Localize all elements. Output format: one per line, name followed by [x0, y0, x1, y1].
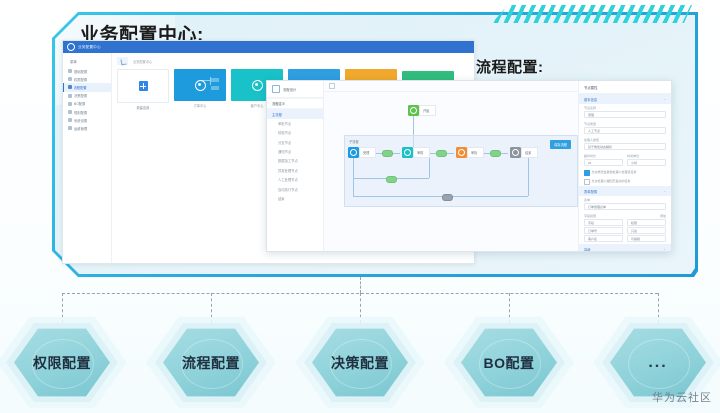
flow-node-label: 结束: [521, 147, 538, 158]
sidebar-item-label: 基础配置: [74, 69, 87, 74]
flow-condition-chip[interactable]: [490, 150, 501, 157]
sidebar-item-label: 运维管理: [74, 126, 87, 131]
flow-node-label: 审批: [467, 147, 484, 158]
grid-cell-field[interactable]: 订单号: [584, 227, 623, 234]
hexagon-label: 流程配置: [182, 353, 240, 373]
flow-edge: [528, 158, 529, 196]
tree-item[interactable]: 分支节点: [267, 138, 323, 147]
app-sidebar: 菜单 基础配置 权限配置 流程配置 决策配置: [63, 53, 112, 263]
hand-pointer-icon: [117, 57, 128, 65]
field-handler-type: 处理人类型 基于角色动态解析: [579, 136, 671, 152]
hexagon-item-1[interactable]: 流程配置: [144, 312, 278, 413]
checkbox-icon: [584, 179, 590, 185]
app-icon: [252, 80, 263, 91]
sidebar-item-label: 规则配置: [74, 110, 87, 115]
save-flow-button[interactable]: 保存流程: [550, 140, 571, 149]
section-label: 基本信息: [584, 97, 597, 102]
flow-edge: [353, 158, 354, 178]
box-icon: [68, 102, 72, 106]
handler-type-select[interactable]: 基于角色动态解析: [584, 143, 666, 150]
flow-icon: [68, 85, 72, 89]
grid-cell-perm[interactable]: 只读: [627, 227, 666, 234]
rule-icon: [68, 110, 72, 114]
checkbox-withdraw[interactable]: 允许处理人撤回已提交的任务: [579, 177, 671, 186]
diagram-decoration-icon: [202, 77, 222, 93]
flow-condition-chip[interactable]: [382, 150, 393, 157]
sidebar-item-label: BO配置: [74, 101, 85, 106]
flow-node-label: 开始: [419, 105, 436, 116]
hexagon-label: 权限配置: [33, 353, 91, 373]
add-field-button[interactable]: 添加: [660, 214, 666, 218]
end-node-icon: [510, 147, 521, 158]
flow-edge: [353, 178, 354, 196]
flow-condition-chip[interactable]: [386, 176, 397, 183]
tool-icon: [68, 126, 72, 130]
tree-item[interactable]: 自动执行节点: [267, 184, 323, 193]
checkbox-icon: [584, 170, 590, 176]
sidebar-item-1[interactable]: 权限配置: [63, 75, 111, 83]
tree-item[interactable]: 结束: [267, 194, 323, 203]
node-type-select[interactable]: 人工节点: [584, 127, 666, 134]
tree-header: 流程设计: [267, 81, 323, 98]
flow-designer-window: 流程设计 流程定义 主流程 审批节点 校验节点 分支节点 通知节点 数据加工节点…: [266, 80, 672, 252]
tree-item-selected[interactable]: 主流程: [267, 109, 323, 118]
page-root: 业务配置中心: 流程配置: 业务配置中心 菜单 基础配置 权限配置 流程配置: [0, 0, 720, 413]
grid-label: 字段权限: [584, 214, 596, 218]
app-title: 业务配置中心: [78, 45, 101, 50]
hexagon-item-0[interactable]: 权限配置: [0, 312, 129, 413]
card-label: 订单中心: [174, 103, 226, 108]
properties-section-advanced[interactable]: 高级 ⌄: [579, 244, 671, 252]
sidebar-item-7[interactable]: 运维管理: [63, 124, 111, 132]
field-label: 时间单位: [627, 154, 666, 158]
watermark: 华为云社区: [652, 389, 712, 405]
new-app-card[interactable]: [117, 69, 169, 103]
field-label: 处理人类型: [584, 138, 666, 142]
breadcrumb-text: 业务配置中心: [133, 59, 152, 64]
form-select[interactable]: 订单受理表单: [584, 203, 666, 210]
properties-title: 节点属性: [579, 81, 671, 94]
flow-node-3[interactable]: 审批: [456, 147, 484, 158]
field-label: 节点名称: [584, 106, 666, 110]
key-icon: [68, 77, 72, 81]
sidebar-item-6[interactable]: 系统设置: [63, 116, 111, 124]
flow-canvas[interactable]: 开始 子流程 保存流程 受理 审核: [324, 91, 578, 251]
grid-icon: [68, 69, 72, 73]
tree-item[interactable]: 审批节点: [267, 119, 323, 128]
field-label: 表单: [584, 198, 666, 202]
chart-icon: [68, 94, 72, 98]
section-label: 表单配置: [584, 189, 597, 194]
properties-section-form[interactable]: 表单配置 ⌄: [579, 186, 671, 196]
properties-panel: 节点属性 基本信息 ⌄ 节点名称 受理 节点类型 人工节点 处理人类型 基于角色…: [578, 81, 671, 251]
breadcrumb: 业务配置中心: [117, 57, 469, 65]
flow-canvas-panel: 开始 子流程 保存流程 受理 审核: [324, 81, 578, 251]
connector-stem: [360, 277, 361, 293]
chevron-down-icon: ⌄: [663, 189, 666, 193]
task-node-icon: [348, 147, 359, 158]
section-label: 高级: [584, 247, 591, 252]
field-timeout-row: 超时时长 24 时间单位 小时: [579, 152, 671, 168]
grid-cell-perm[interactable]: 可编辑: [627, 235, 666, 242]
flow-node-2[interactable]: 审核: [402, 147, 430, 158]
app-titlebar: 业务配置中心: [63, 41, 474, 53]
flow-reject-chip[interactable]: [442, 194, 453, 201]
stripe-decoration-icon: [492, 5, 692, 23]
hexagon-item-2[interactable]: 决策配置: [293, 312, 427, 413]
chevron-down-icon: ⌄: [663, 247, 666, 251]
grid-cell-field[interactable]: 客户名: [584, 235, 623, 242]
gear-icon: [68, 118, 72, 122]
card-cell-1[interactable]: 订单中心: [174, 69, 226, 108]
tree-item[interactable]: 数据加工节点: [267, 156, 323, 165]
sidebar-item-label: 权限配置: [74, 77, 87, 82]
tree-item[interactable]: 人工处理节点: [267, 175, 323, 184]
hexagon-label: BO配置: [484, 353, 535, 373]
grid-header-perm: 权限: [627, 219, 666, 226]
chevron-down-icon: ⌄: [663, 97, 666, 101]
field-label: 节点类型: [584, 122, 666, 126]
hexagon-item-3[interactable]: BO配置: [442, 312, 576, 413]
sidebar-item-0[interactable]: 基础配置: [63, 67, 111, 75]
checkbox-label: 允许委托给其他处理人处理该任务: [592, 170, 637, 174]
flow-node-label: 受理: [359, 147, 376, 158]
approve-node-icon: [456, 147, 467, 158]
field-permission-grid: 字段权限 添加 字段 权限 订单号 只读 客户名 可编辑: [579, 212, 671, 244]
checkbox-label: 允许处理人撤回已提交的任务: [592, 179, 631, 183]
field-node-name: 节点名称 受理: [579, 104, 671, 120]
flow-node-1[interactable]: 受理: [348, 147, 376, 158]
grid-header-field: 字段: [584, 219, 623, 226]
flow-node-4[interactable]: 结束: [510, 147, 538, 158]
time-unit-select[interactable]: 小时: [627, 159, 666, 166]
field-time-unit: 时间单位 小时: [627, 154, 666, 166]
tree-header-label: 流程设计: [283, 87, 296, 92]
properties-section-basic[interactable]: 基本信息 ⌄: [579, 94, 671, 104]
checkbox-delegate[interactable]: 允许委托给其他处理人处理该任务: [579, 168, 671, 177]
card-cell-0[interactable]: 新建应用: [117, 69, 169, 110]
hexagon-label: 决策配置: [331, 353, 389, 373]
sidebar-item-label: 决策配置: [74, 93, 87, 98]
flow-edge: [353, 196, 528, 197]
flow-condition-chip[interactable]: [436, 150, 447, 157]
tree-item[interactable]: 校验节点: [267, 128, 323, 137]
hexagon-row: 权限配置 流程配置 决策配置 BO配置: [0, 312, 720, 413]
field-timeout: 超时时长 24: [584, 154, 623, 166]
field-label: 超时时长: [584, 154, 623, 158]
tree-item[interactable]: 异常处理节点: [267, 166, 323, 175]
start-node-icon: [408, 105, 419, 116]
sidebar-header: 菜单: [63, 57, 111, 67]
sidebar-item-5[interactable]: 规则配置: [63, 108, 111, 116]
app-card[interactable]: [174, 69, 226, 101]
task-node-icon: [402, 147, 413, 158]
subprocess-label: 子流程: [349, 139, 359, 144]
sidebar-item-label: 系统设置: [74, 118, 87, 123]
section-subtitle: 流程配置:: [476, 56, 544, 77]
sidebar-item-3[interactable]: 决策配置: [63, 92, 111, 100]
tree-section[interactable]: 流程定义: [267, 98, 323, 109]
hexagon-label: ...: [648, 354, 667, 372]
sidebar-item-2[interactable]: 流程配置: [63, 83, 111, 91]
circle-logo-icon: [67, 43, 75, 51]
tree-item[interactable]: 通知节点: [267, 147, 323, 156]
card-label: 新建应用: [117, 105, 169, 110]
sidebar-item-4[interactable]: BO配置: [63, 100, 111, 108]
flow-edge: [429, 158, 430, 178]
select-tool-icon[interactable]: [329, 83, 335, 89]
document-icon: [272, 85, 280, 93]
flow-tree-panel: 流程设计 流程定义 主流程 审批节点 校验节点 分支节点 通知节点 数据加工节点…: [267, 81, 324, 251]
timeout-input[interactable]: 24: [584, 159, 623, 166]
sidebar-item-label: 流程配置: [74, 85, 87, 90]
node-name-input[interactable]: 受理: [584, 111, 666, 118]
field-form: 表单 订单受理表单: [579, 196, 671, 212]
field-node-type: 节点类型 人工节点: [579, 120, 671, 136]
flow-node-start[interactable]: 开始: [408, 105, 436, 116]
plus-document-icon: [139, 81, 148, 91]
flow-node-label: 审核: [413, 147, 430, 158]
